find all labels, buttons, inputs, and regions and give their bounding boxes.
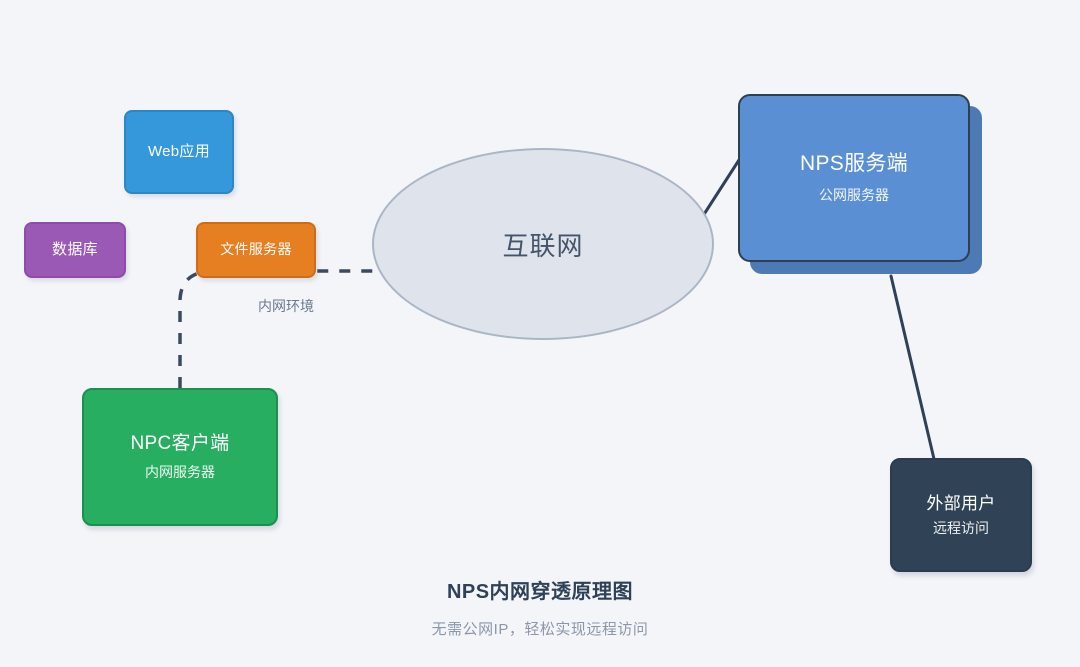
node-internet-label: 互联网 xyxy=(502,226,583,263)
node-web-app-label: Web应用 xyxy=(148,143,210,162)
node-npc-client-label: NPC客户端 xyxy=(131,432,230,456)
node-external-user-sublabel: 远程访问 xyxy=(933,520,989,538)
diagram-caption: NPS内网穿透原理图 无需公网IP，轻松实现远程访问 xyxy=(0,575,1080,639)
node-web-app[interactable]: Web应用 xyxy=(124,110,234,194)
node-database[interactable]: 数据库 xyxy=(24,222,126,278)
node-npc-client-sublabel: 内网服务器 xyxy=(145,464,215,482)
node-file-server[interactable]: 文件服务器 xyxy=(196,222,316,278)
node-nps-server-sublabel: 公网服务器 xyxy=(819,187,889,205)
edge-nps-to-external-user xyxy=(891,276,934,459)
label-lan-environment: 内网环境 xyxy=(258,296,314,316)
node-npc-client[interactable]: NPC客户端 内网服务器 xyxy=(82,388,278,526)
diagram-subtitle: 无需公网IP，轻松实现远程访问 xyxy=(0,618,1080,639)
node-external-user-label: 外部用户 xyxy=(926,493,995,514)
node-database-label: 数据库 xyxy=(52,241,98,260)
diagram-canvas: 互联网 Web应用 数据库 文件服务器 内网环境 NPC客户端 内网服务器 NP… xyxy=(0,0,1080,667)
node-internet[interactable]: 互联网 xyxy=(372,148,714,340)
diagram-title: NPS内网穿透原理图 xyxy=(0,575,1080,604)
node-nps-server[interactable]: NPS服务端 公网服务器 xyxy=(738,94,970,262)
node-file-server-label: 文件服务器 xyxy=(220,241,292,259)
node-external-user[interactable]: 外部用户 远程访问 xyxy=(890,458,1032,572)
node-nps-server-label: NPS服务端 xyxy=(800,151,908,177)
